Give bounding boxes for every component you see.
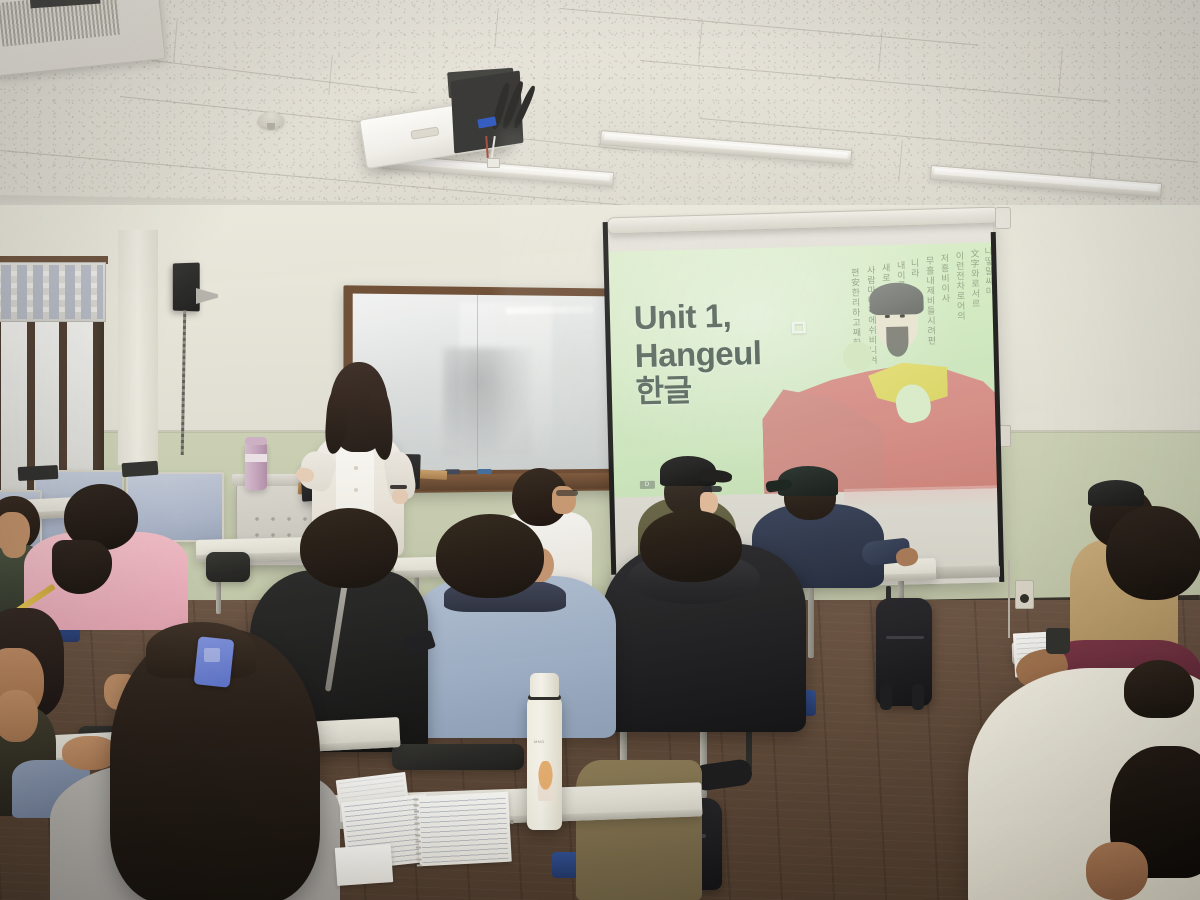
projection-screen-color-wash [844, 485, 1001, 511]
wall-power-outlet [1015, 580, 1034, 609]
bottle-label-text: MNG [534, 739, 545, 744]
backpack [876, 598, 932, 706]
slide-title-line1: Unit 1, [633, 297, 731, 336]
open-notebook[interactable] [416, 792, 512, 867]
student-trousers [576, 760, 702, 900]
lecture-slide: Unit 1, Hangeul 한글 나띻말싸미 文字와로서르 이런전차로어의 … [608, 242, 999, 497]
sejong-hat [869, 282, 924, 315]
backpack-strap [880, 684, 892, 710]
window-blind-pattern [0, 265, 103, 319]
slide-title-line2: Hangeul [634, 334, 762, 374]
slide-hanja-column: 무흘내제비들시려펀 [923, 256, 935, 374]
paper-sheet[interactable] [335, 844, 394, 886]
slide-hanja-column: 저흥비이사 [938, 253, 950, 373]
whiteboard-marker[interactable] [477, 469, 492, 474]
backpack-zipper [886, 636, 924, 639]
sejong-eye [885, 315, 890, 318]
projection-screen-roller-cap [995, 207, 1011, 229]
whiteboard-light-reflection [506, 305, 593, 313]
glasses [556, 490, 578, 496]
slide-hanja-column: 文字와로서르 [968, 249, 981, 377]
pink-tumbler[interactable] [245, 442, 267, 490]
projector-lens-icon [410, 126, 439, 139]
classroom-photograph: Unit 1, Hangeul 한글 나띻말싸미 文字와로서르 이런전차로어의 … [0, 0, 1200, 900]
blue-hair-clip [194, 636, 235, 688]
notebook-lines [419, 795, 508, 863]
whiteboard-panel-seam [477, 295, 478, 468]
student-head [640, 510, 742, 582]
cat-illustration-icon [533, 761, 558, 801]
monitor-back [18, 465, 59, 481]
slide-logo: D [640, 481, 656, 489]
power-cord [1008, 560, 1010, 638]
whiteboard-reflection [443, 347, 532, 456]
jamo-letter-mieum: ㅁ [788, 309, 810, 344]
shirt-button [354, 466, 358, 470]
chair-backrest [392, 744, 524, 770]
sejong-eye [900, 315, 905, 318]
instructor-right-hand [392, 489, 408, 504]
paper-cup[interactable] [1046, 628, 1070, 654]
wall-speaker [173, 263, 200, 312]
slide-artwork: 나띻말싸미 文字와로서르 이런전차로어의 저흥비이사 무흘내제비들시려펀 니라 … [758, 242, 999, 494]
black-cap [1088, 480, 1144, 506]
water-bottle[interactable]: MNG [527, 695, 562, 830]
backpack-strap [912, 684, 924, 710]
slide-hanja-column: 이런전차로어의 [953, 251, 965, 375]
student-head [300, 508, 398, 588]
hair-clip-highlight [204, 648, 220, 662]
student-head [1124, 660, 1194, 718]
student-hand [2, 536, 26, 558]
smoke-detector-icon [258, 112, 284, 128]
student-head [436, 514, 544, 598]
bottle-cap[interactable] [530, 673, 559, 697]
student-head [1106, 506, 1200, 600]
chair-backrest [206, 552, 250, 582]
projector-wire-plug [487, 158, 500, 168]
ac-vent-grille [0, 0, 122, 47]
tumbler-lid [245, 437, 267, 445]
wall-column [118, 230, 158, 465]
student-hand [0, 690, 38, 742]
student-ear [1086, 842, 1148, 900]
whiteboard-marker[interactable] [445, 469, 460, 474]
tumbler-label [245, 454, 267, 462]
window-blind[interactable] [0, 262, 106, 322]
monitor-back [122, 461, 159, 477]
instructor-bracelet [390, 485, 407, 489]
shirt-button [354, 488, 358, 492]
desk-leg [808, 580, 814, 658]
